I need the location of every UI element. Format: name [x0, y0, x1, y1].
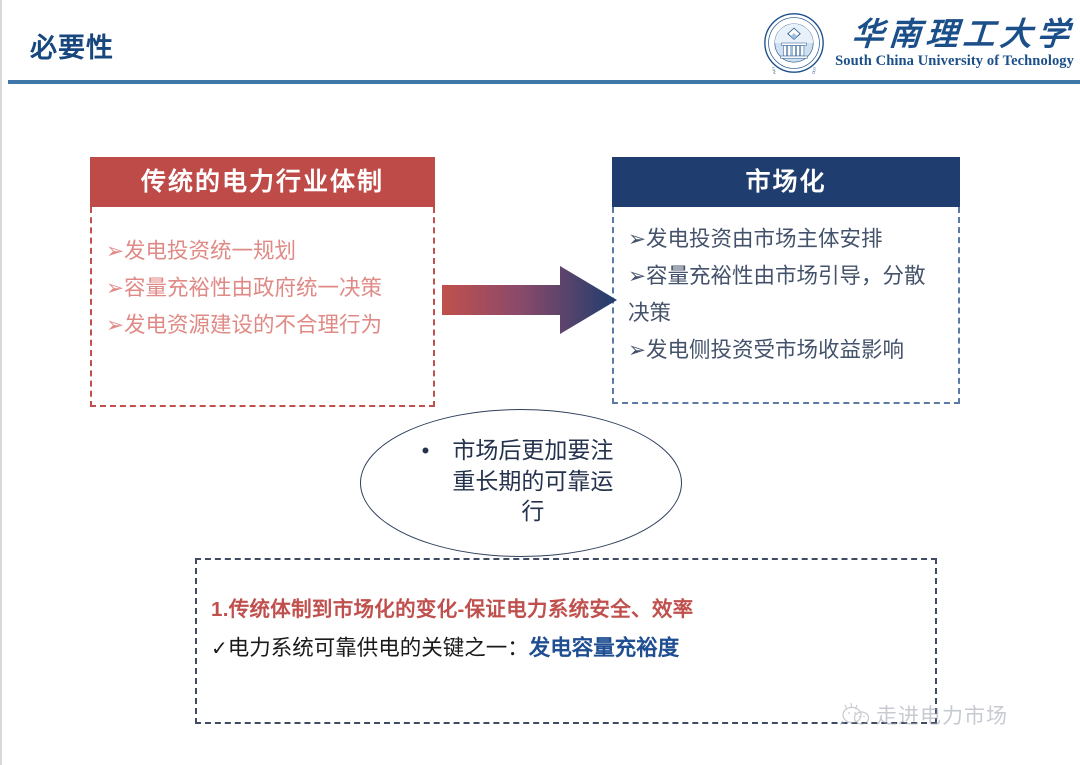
list-item-label: 容量充裕性由政府统一决策 [124, 276, 382, 300]
scut-emblem-icon: 华南理工大学 SOUTH CHINA UNIVERSITY OF TECHNOL… [763, 12, 825, 74]
conclusion-heading-label: 传统体制到市场化的变化-保证电力系统安全、效率 [229, 598, 694, 621]
page-title: 必要性 [30, 26, 114, 65]
panel-market-body: ➢发电投资由市场主体安排 ➢容量充裕性由市场引导，分散决策 ➢发电侧投资受市场收… [612, 207, 960, 404]
bullet-arrow-icon: ➢ [628, 338, 646, 362]
slide-header: 必要性 华 [2, 0, 1080, 84]
bullet-arrow-icon: ➢ [106, 239, 124, 263]
bullet-arrow-icon: ➢ [106, 313, 124, 337]
check-icon: ✓ [211, 638, 228, 660]
panel-traditional-header: 传统的电力行业体制 [90, 157, 435, 207]
list-item: ➢发电投资统一规划 [106, 233, 419, 270]
list-item-label: 发电侧投资受市场收益影响 [646, 338, 904, 362]
list-item: ➢容量充裕性由政府统一决策 [106, 270, 419, 307]
list-item-label: 容量充裕性由市场引导，分散决策 [628, 264, 926, 325]
university-logo: 华南理工大学 SOUTH CHINA UNIVERSITY OF TECHNOL… [763, 8, 1074, 78]
logo-wordmark: 华南理工大学 South China University of Technol… [835, 18, 1074, 69]
bullet-arrow-icon: ➢ [628, 227, 646, 251]
list-item-label: 发电资源建设的不合理行为 [124, 313, 382, 337]
conclusion-heading: 1.传统体制到市场化的变化-保证电力系统安全、效率 [211, 592, 919, 622]
logo-english-name: South China University of Technology [835, 54, 1074, 69]
conclusion-box: 1.传统体制到市场化的变化-保证电力系统安全、效率 ✓电力系统可靠供电的关键之一… [195, 558, 937, 724]
ellipse-note-content: • 市场后更加要注重长期的可靠运行 [422, 435, 621, 531]
logo-chinese-name: 华南理工大学 [851, 18, 1075, 50]
conclusion-detail: ✓电力系统可靠供电的关键之一：发电容量充裕度 [211, 631, 919, 662]
panel-traditional-system: 传统的电力行业体制 ➢发电投资统一规划 ➢容量充裕性由政府统一决策 ➢发电资源建… [90, 157, 435, 407]
slide-canvas: 必要性 华 [0, 0, 1080, 765]
watermark: 走进电力市场 [840, 700, 1008, 730]
list-item: ➢发电投资由市场主体安排 [628, 221, 944, 258]
panel-market-header: 市场化 [612, 157, 960, 207]
panel-marketization: 市场化 ➢发电投资由市场主体安排 ➢容量充裕性由市场引导，分散决策 ➢发电侧投资… [612, 157, 960, 404]
list-item: ➢发电侧投资受市场收益影响 [628, 332, 944, 369]
transition-arrow-icon [442, 266, 617, 334]
bullet-arrow-icon: ➢ [106, 276, 124, 300]
wechat-icon [840, 702, 870, 728]
conclusion-number: 1. [211, 598, 229, 621]
header-divider [8, 80, 1080, 84]
watermark-label: 走进电力市场 [876, 700, 1008, 730]
ellipse-note-label: 市场后更加要注重长期的可靠运行 [445, 435, 620, 527]
list-item: ➢容量充裕性由市场引导，分散决策 [628, 258, 944, 332]
bullet-dot-icon: • [422, 435, 430, 462]
conclusion-detail-emphasis: 发电容量充裕度 [529, 636, 680, 660]
list-item: ➢发电资源建设的不合理行为 [106, 307, 419, 344]
list-item-label: 发电投资统一规划 [124, 239, 296, 263]
bullet-arrow-icon: ➢ [628, 264, 646, 288]
ellipse-note: • 市场后更加要注重长期的可靠运行 [360, 409, 682, 557]
panel-traditional-body: ➢发电投资统一规划 ➢容量充裕性由政府统一决策 ➢发电资源建设的不合理行为 [90, 207, 435, 407]
list-item-label: 发电投资由市场主体安排 [646, 227, 883, 251]
conclusion-detail-prefix: 电力系统可靠供电的关键之一： [228, 636, 529, 660]
